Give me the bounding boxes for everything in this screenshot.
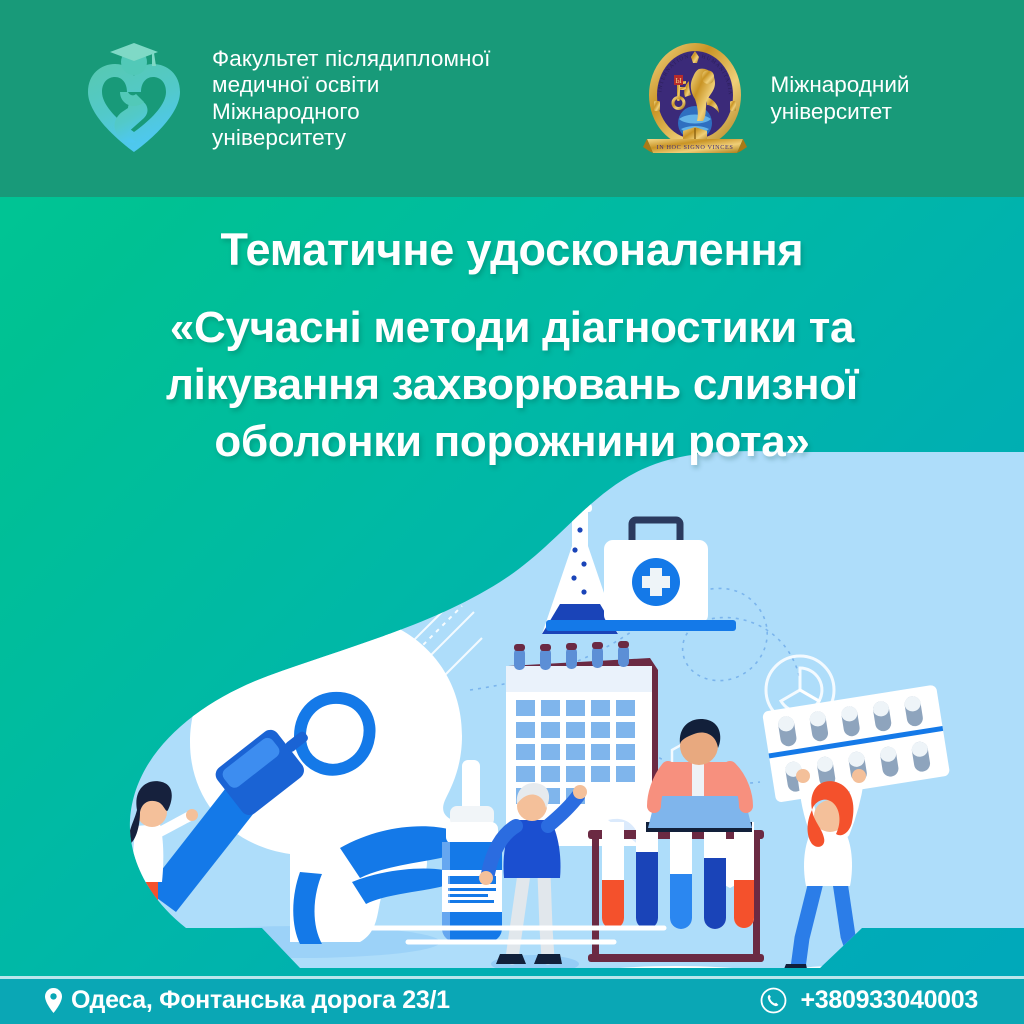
page-subtitle: «Сучасні методи діагностики та лікування… xyxy=(0,299,1024,470)
header-left-line-2: медичної освіти xyxy=(212,72,491,99)
map-pin-icon xyxy=(44,988,63,1013)
header-left-line-3: Міжнародного xyxy=(212,99,491,126)
gear-icon xyxy=(212,588,244,620)
page-title: Тематичне удосконалення xyxy=(0,205,1024,277)
subtitle-line-3: оболонки порожнини рота» xyxy=(0,413,1024,470)
header-left-block: Факультет післядипломної медичної освіти… xyxy=(78,40,491,158)
heart-graduate-icon xyxy=(78,40,190,158)
header-right-line-2: університет xyxy=(771,99,910,126)
phone-icon xyxy=(760,987,787,1014)
illustration xyxy=(0,430,1024,990)
footer-divider xyxy=(0,976,1024,979)
footer: Одеса, Фонтанська дорога 23/1 +380933040… xyxy=(0,976,1024,1024)
footer-address-text: Одеса, Фонтанська дорога 23/1 xyxy=(71,986,450,1015)
footer-phone-text: +380933040003 xyxy=(800,986,978,1015)
header-right-line-1: Міжнародний xyxy=(771,72,910,99)
svg-text:Ы: Ы xyxy=(675,77,681,85)
header-right-text: Міжнародний університет xyxy=(771,72,910,125)
shelf xyxy=(546,620,736,631)
subtitle-line-1: «Сучасні методи діагностики та xyxy=(0,299,1024,356)
header-right-block: INTERNATIONAL HUMANITARIAN UNIVERSITY xyxy=(641,39,910,159)
title-block: Тематичне удосконалення «Сучасні методи … xyxy=(0,205,1024,470)
poster-root: Факультет післядипломної медичної освіти… xyxy=(0,0,1024,1024)
header-left-line-4: університету xyxy=(212,125,491,152)
svg-text:IN HOC SIGNO VINCES: IN HOC SIGNO VINCES xyxy=(656,144,733,151)
university-seal-icon: INTERNATIONAL HUMANITARIAN UNIVERSITY xyxy=(641,39,749,159)
header: Факультет післядипломної медичної освіти… xyxy=(0,0,1024,197)
header-left-text: Факультет післядипломної медичної освіти… xyxy=(212,46,491,152)
subtitle-line-2: лікування захворювань слизної xyxy=(0,356,1024,413)
footer-phone: +380933040003 xyxy=(760,986,978,1015)
footer-address: Одеса, Фонтанська дорога 23/1 xyxy=(44,986,450,1015)
header-left-line-1: Факультет післядипломної xyxy=(212,46,491,73)
